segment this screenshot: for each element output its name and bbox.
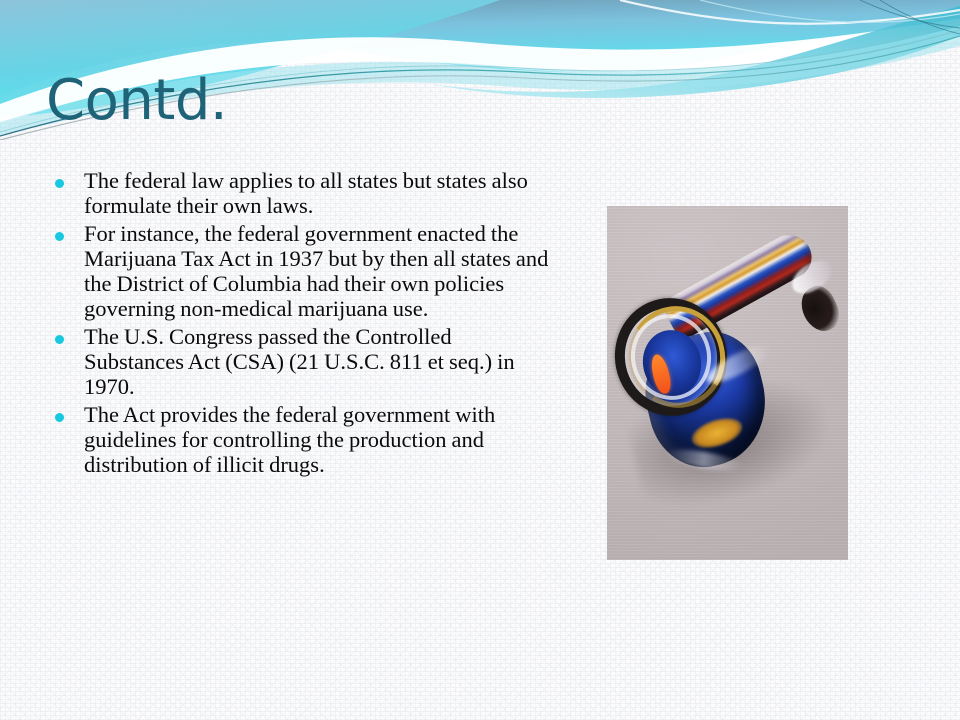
list-item: The U.S. Congress passed the Controlled …	[46, 324, 556, 400]
list-item-text: For instance, the federal government ena…	[84, 221, 556, 322]
bullet-dot-icon	[55, 413, 64, 422]
glass-pipe-photo	[607, 206, 848, 560]
bullet-list: The federal law applies to all states bu…	[46, 168, 556, 480]
list-item-text: The U.S. Congress passed the Controlled …	[84, 324, 556, 400]
bullet-dot-icon	[55, 335, 64, 344]
bullet-dot-icon	[55, 232, 64, 241]
list-item: The federal law applies to all states bu…	[46, 168, 556, 219]
list-item: For instance, the federal government ena…	[46, 221, 556, 322]
list-item: The Act provides the federal government …	[46, 402, 556, 478]
list-item-text: The federal law applies to all states bu…	[84, 168, 556, 219]
slide: Contd. The federal law applies to all st…	[0, 0, 960, 720]
bullet-dot-icon	[55, 179, 64, 188]
list-item-text: The Act provides the federal government …	[84, 402, 556, 478]
page-title: Contd.	[46, 72, 227, 131]
